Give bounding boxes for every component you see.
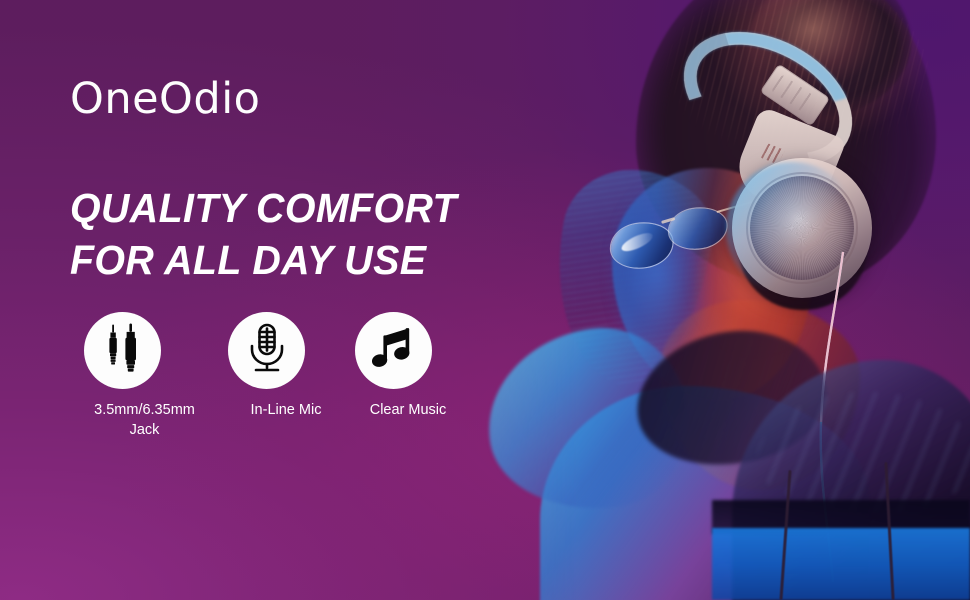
lens-glint xyxy=(619,230,655,255)
headline: QUALITY COMFORT FOR ALL DAY USE xyxy=(70,182,457,286)
feature-label: In-Line Mic xyxy=(227,400,345,420)
feature-item-music: Clear Music xyxy=(345,312,465,420)
feature-item-jack: 3.5mm/6.35mm Jack xyxy=(70,312,211,440)
hoodie-blue-band xyxy=(712,528,970,600)
microphone-icon xyxy=(246,323,288,378)
feature-label: 3.5mm/6.35mm Jack xyxy=(78,400,211,440)
feature-icon-circle xyxy=(228,312,305,389)
feature-icon-circle xyxy=(84,312,161,389)
feature-list: 3.5mm/6.35mm Jack xyxy=(70,312,490,440)
brand-logo: OneOdio xyxy=(70,74,260,124)
promo-banner: OneOdio QUALITY COMFORT FOR ALL DAY USE xyxy=(0,0,970,600)
feature-label: Clear Music xyxy=(351,400,465,420)
banner-content: OneOdio QUALITY COMFORT FOR ALL DAY USE xyxy=(0,0,520,600)
sunglasses-lens-left xyxy=(608,219,676,272)
feature-item-mic: In-Line Mic xyxy=(211,312,345,420)
music-note-icon xyxy=(372,325,416,376)
audio-jack-plugs-icon xyxy=(101,323,145,378)
feature-icon-circle xyxy=(355,312,432,389)
headline-line-1: QUALITY COMFORT xyxy=(70,185,457,231)
headline-line-2: FOR ALL DAY USE xyxy=(70,234,457,286)
